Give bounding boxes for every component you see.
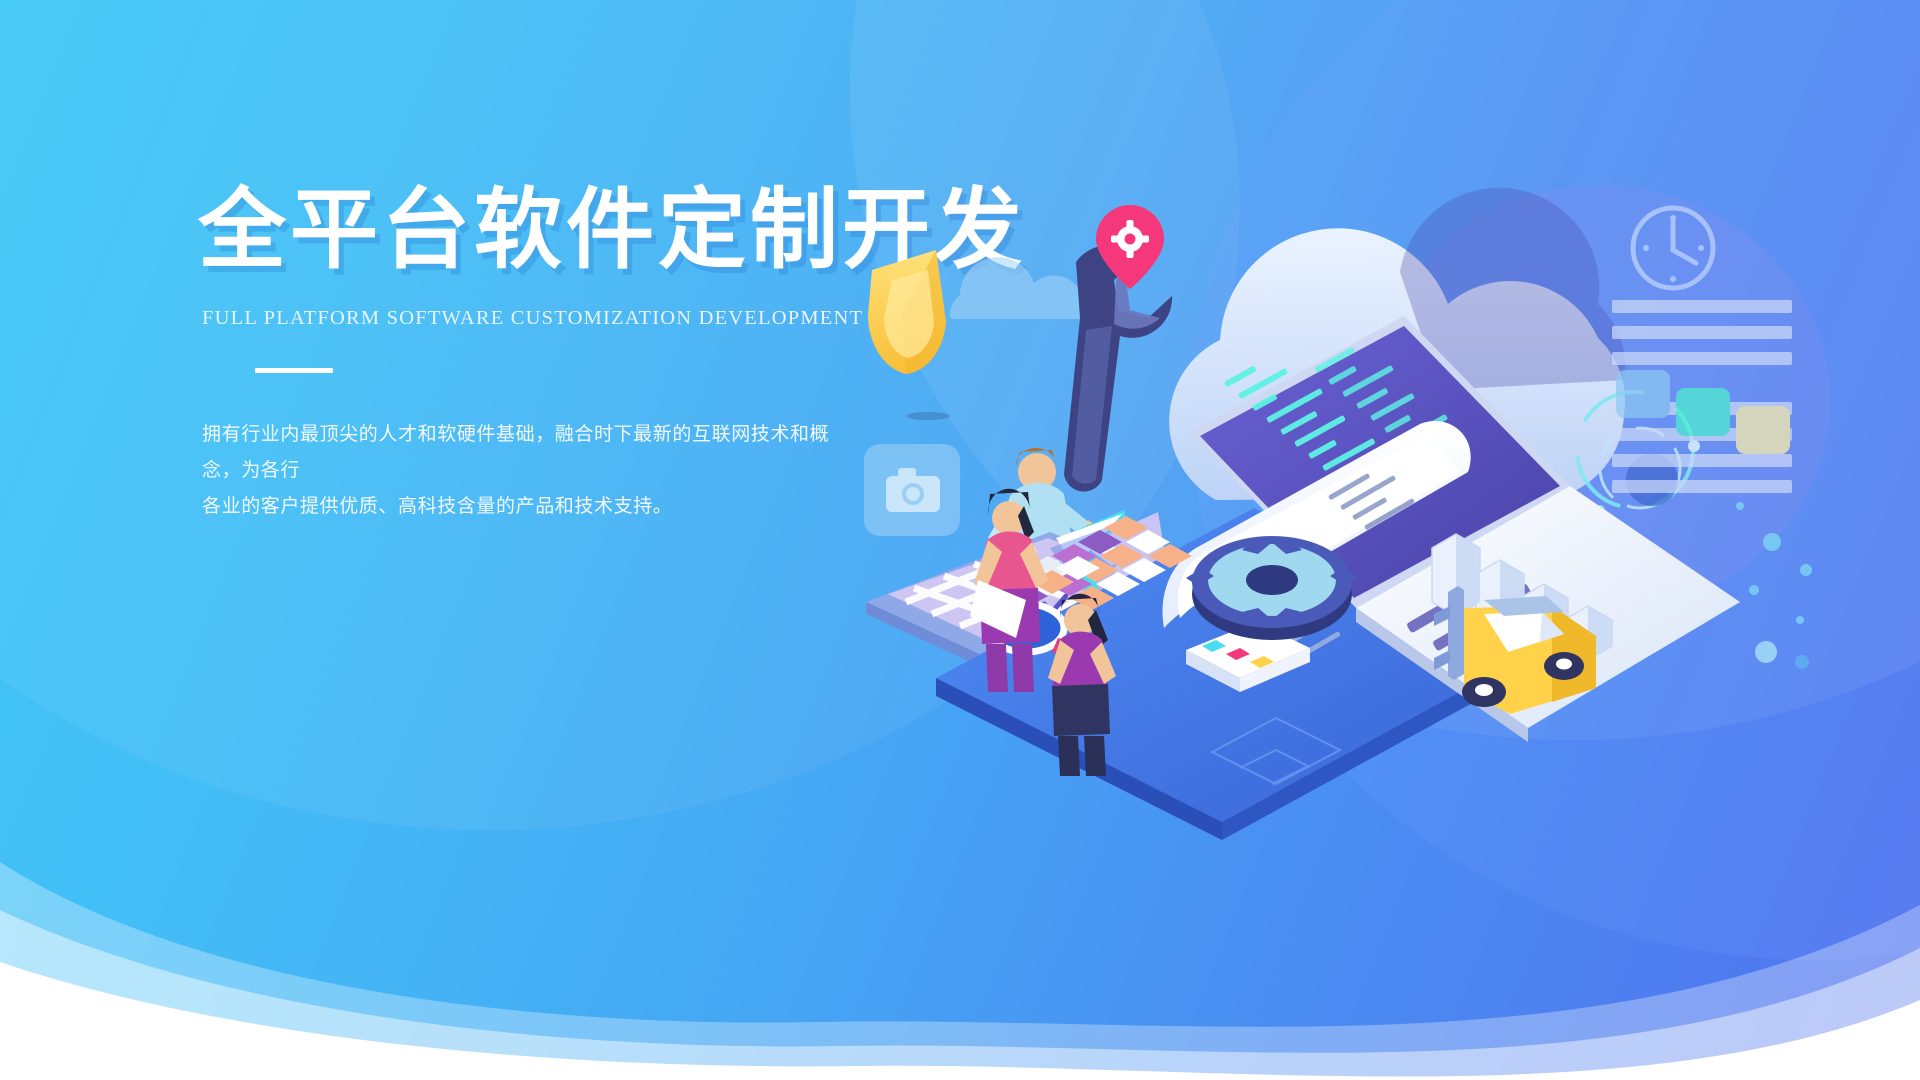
description-line-1: 拥有行业内最顶尖的人才和软硬件基础，融合时下最新的互联网技术和概念，为各行	[202, 417, 862, 489]
clock-icon	[1633, 208, 1713, 288]
description-line-2: 各业的客户提供优质、高科技含量的产品和技术支持。	[202, 489, 862, 525]
illustration-svg	[840, 150, 1920, 770]
shield-icon	[868, 250, 946, 374]
hero-illustration	[840, 150, 1920, 770]
cloud-icon	[950, 257, 1090, 319]
divider-rule	[255, 368, 333, 373]
wrench-icon	[1064, 245, 1172, 491]
camera-icon	[864, 412, 960, 536]
hero-banner: 全平台软件定制开发 FULL PLATFORM SOFTWARE CUSTOMI…	[0, 0, 1920, 1080]
hero-description: 拥有行业内最顶尖的人才和软硬件基础，融合时下最新的互联网技术和概念，为各行 各业…	[202, 417, 862, 525]
